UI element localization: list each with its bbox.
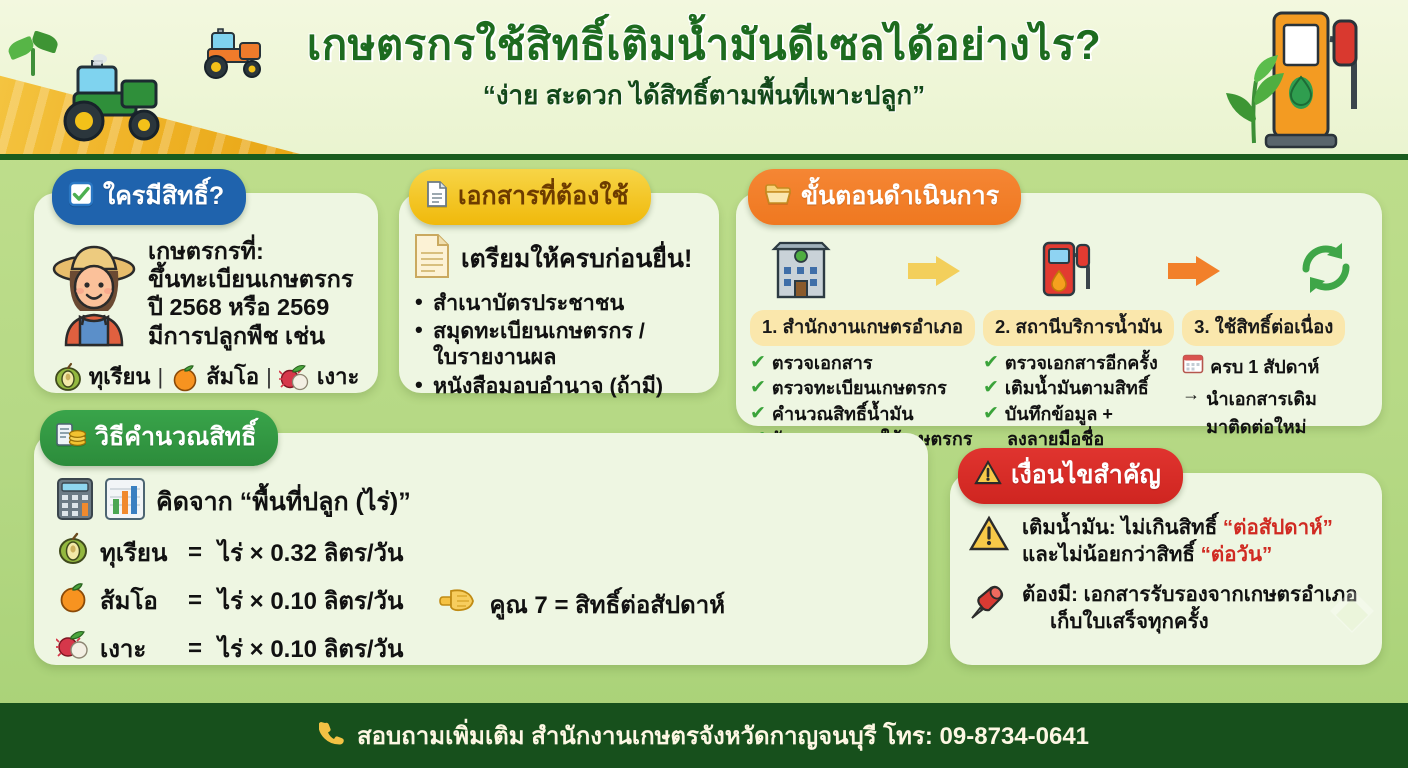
crop-formula: ไร่ × 0.10 ลิตร/วัน bbox=[218, 629, 403, 668]
rambutan-icon bbox=[56, 628, 90, 669]
footer-contact-text: สอบถามเพิ่มเติม สำนักงานเกษตรจังหวัดกาญจ… bbox=[357, 716, 1089, 755]
equals-sign: = bbox=[188, 635, 208, 663]
step-pill-3: 3. ใช้สิทธิ์ต่อเนื่อง bbox=[1182, 310, 1345, 346]
equals-sign: = bbox=[188, 587, 208, 615]
document-item-text: สมุดทะเบียนเกษตรกร / bbox=[433, 319, 645, 343]
step-pill-1: 1. สำนักงานเกษตรอำเภอ bbox=[750, 310, 975, 346]
office-building-icon bbox=[766, 237, 836, 304]
badge-documents: เอกสารที่ต้องใช้ bbox=[409, 169, 651, 225]
pointing-hand-icon bbox=[439, 585, 479, 624]
step-column-3: 3. ใช้สิทธิ์ต่อเนื่อง ครบ 1 สัปดาห์ → นำ… bbox=[1178, 310, 1374, 454]
list-item: สำเนาบัตรประชาชน bbox=[415, 290, 719, 316]
check-icon: ✔ bbox=[983, 352, 999, 375]
card-steps: 1. สำนักงานเกษตรอำเภอ ✔ตรวจเอกสาร ✔ตรวจท… bbox=[736, 193, 1382, 426]
crop-name: ทุเรียน bbox=[100, 533, 178, 572]
calculation-rows: ทุเรียน = ไร่ × 0.32 ลิตร/วัน ส้มโอ = ไร… bbox=[56, 532, 403, 676]
list-item: ✔เติมน้ำมันตามสิทธิ์ bbox=[983, 377, 1174, 400]
eligibility-text: เกษตรกรที่: ขึ้นทะเบียนเกษตรกร ปี 2568 ห… bbox=[148, 235, 354, 352]
pomelo-icon bbox=[56, 580, 90, 621]
calculation-row: เงาะ = ไร่ × 0.10 ลิตร/วัน bbox=[56, 628, 403, 669]
check-icon: ✔ bbox=[983, 377, 999, 400]
badge-calculation: วิธีคำนวณสิทธิ์ bbox=[40, 410, 278, 466]
badge-conditions: เงื่อนไขสำคัญ bbox=[958, 448, 1183, 504]
step3-line-3: มาติดต่อใหม่ bbox=[1182, 416, 1370, 439]
crop-name: เงาะ bbox=[100, 629, 178, 668]
warning-triangle-icon bbox=[968, 515, 1010, 568]
folder-open-icon bbox=[764, 182, 792, 211]
badge-steps-label: ขั้นตอนดำเนินการ bbox=[801, 176, 999, 216]
step3-line-1: ครบ 1 สัปดาห์ bbox=[1182, 352, 1370, 381]
document-item-text: หนังสือมอบอำนาจ (ถ้ามี) bbox=[433, 374, 663, 398]
crop-list: ทุเรียน | ส้มโอ | เงาะ bbox=[34, 359, 378, 394]
list-item: ✔ตรวจเอกสารอีกครั้ง bbox=[983, 352, 1174, 375]
page-header: เกษตรกรใช้สิทธิ์เติมน้ำมันดีเซลได้อย่างไ… bbox=[0, 0, 1408, 160]
card-calculation: คิดจาก “พื้นที่ปลูก (ไร่)” ทุเรียน = ไร่… bbox=[34, 433, 928, 665]
documents-list: สำเนาบัตรประชาชน สมุดทะเบียนเกษตรกร / ใบ… bbox=[415, 290, 719, 399]
badge-steps: ขั้นตอนดำเนินการ bbox=[748, 169, 1021, 225]
condition-highlight-2: “ต่อวัน” bbox=[1201, 543, 1273, 566]
list-item: ✔คำนวณสิทธิ์น้ำมัน bbox=[750, 403, 975, 426]
eligibility-line: ขึ้นทะเบียนเกษตรกร bbox=[148, 265, 354, 293]
eligibility-line: เกษตรกรที่: bbox=[148, 237, 354, 265]
check-icon: ✔ bbox=[983, 403, 999, 426]
corner-fan-decoration bbox=[1312, 589, 1392, 633]
condition-highlight: “ต่อสัปดาห์” bbox=[1223, 516, 1333, 539]
document-item-cont: ใบรายงานผล bbox=[433, 344, 719, 370]
fuel-pump-icon bbox=[1036, 237, 1096, 304]
badge-conditions-label: เงื่อนไขสำคัญ bbox=[1011, 455, 1161, 495]
page-footer: สอบถามเพิ่มเติม สำนักงานเกษตรจังหวัดกาญจ… bbox=[0, 703, 1408, 768]
condition-prefix-3: ต้องมี: เอกสารรับรองจากเกษตรอำเภอ bbox=[1022, 582, 1358, 609]
rambutan-icon bbox=[279, 362, 311, 392]
check-icon: ✔ bbox=[750, 352, 766, 375]
crop-formula: ไร่ × 0.10 ลิตร/วัน bbox=[218, 581, 403, 620]
step-items-2: ✔ตรวจเอกสารอีกครั้ง ✔เติมน้ำมันตามสิทธิ์… bbox=[983, 352, 1174, 426]
list-item: ✔ตรวจทะเบียนเกษตรกร bbox=[750, 377, 975, 400]
arrow-right-orange-icon bbox=[1168, 256, 1224, 286]
document-icon bbox=[425, 180, 449, 213]
document-lines-icon bbox=[413, 233, 451, 284]
crop-name: ส้มโอ bbox=[100, 581, 178, 620]
pomelo-icon bbox=[170, 362, 200, 392]
condition-indent: เก็บใบเสร็จทุกครั้ง bbox=[1022, 609, 1358, 636]
calculation-note-text: คูณ 7 = สิทธิ์ต่อสัปดาห์ bbox=[489, 585, 725, 624]
arrow-right-yellow-icon bbox=[908, 256, 964, 286]
badge-calculation-label: วิธีคำนวณสิทธิ์ bbox=[95, 417, 256, 457]
eligibility-line: ปี 2568 หรือ 2569 bbox=[148, 293, 354, 321]
list-item: ✔ตรวจเอกสาร bbox=[750, 352, 975, 375]
durian-icon bbox=[56, 532, 90, 573]
calculator-icon bbox=[56, 477, 94, 526]
warning-triangle-icon bbox=[974, 460, 1002, 491]
check-icon: ✔ bbox=[750, 403, 766, 426]
list-item: หนังสือมอบอำนาจ (ถ้ามี) bbox=[415, 373, 719, 399]
crop-separator: | bbox=[265, 364, 273, 390]
step-column-2: 2. สถานีบริการน้ำมัน ✔ตรวจเอกสารอีกครั้ง… bbox=[979, 310, 1178, 454]
page-subtitle: “ง่าย สะดวก ได้สิทธิ์ตามพื้นที่เพาะปลูก” bbox=[0, 75, 1408, 116]
crop-formula: ไร่ × 0.32 ลิตร/วัน bbox=[218, 533, 403, 572]
condition-text-1: เติมน้ำมัน: ไม่เกินสิทธิ์ “ต่อสัปดาห์” แ… bbox=[1022, 515, 1333, 568]
pushpin-icon bbox=[968, 582, 1010, 635]
calculation-row: ทุเรียน = ไร่ × 0.32 ลิตร/วัน bbox=[56, 532, 403, 573]
eligibility-line: มีการปลูกพืช เช่น bbox=[148, 322, 354, 350]
badge-eligibility: ใครมีสิทธิ์? bbox=[52, 169, 246, 225]
page-title: เกษตรกรใช้สิทธิ์เติมน้ำมันดีเซลได้อย่างไ… bbox=[0, 22, 1408, 67]
equals-sign: = bbox=[188, 539, 208, 567]
calculation-row: ส้มโอ = ไร่ × 0.10 ลิตร/วัน bbox=[56, 580, 403, 621]
refresh-cycle-icon bbox=[1296, 239, 1356, 302]
crop-label-pomelo: ส้มโอ bbox=[206, 359, 259, 394]
condition-prefix: เติมน้ำมัน: ไม่เกินสิทธิ์ bbox=[1022, 516, 1223, 539]
step3-line-2: → นำเอกสารเดิม bbox=[1182, 384, 1370, 413]
calculation-headline: คิดจาก “พื้นที่ปลูก (ไร่)” bbox=[156, 482, 411, 522]
badge-eligibility-label: ใครมีสิทธิ์? bbox=[103, 176, 224, 216]
crop-separator: | bbox=[156, 364, 164, 390]
document-item-text: สำเนาบัตรประชาชน bbox=[433, 291, 624, 315]
crop-label-rambutan: เงาะ bbox=[317, 359, 359, 394]
condition-text-2: ต้องมี: เอกสารรับรองจากเกษตรอำเภอ เก็บใบ… bbox=[1022, 582, 1358, 635]
calculation-note: คูณ 7 = สิทธิ์ต่อสัปดาห์ bbox=[439, 585, 725, 624]
checkbox-check-icon bbox=[68, 181, 94, 212]
check-icon: ✔ bbox=[750, 377, 766, 400]
durian-icon bbox=[53, 362, 83, 392]
content-stage: ใครมีสิทธิ์? เกษตรกรท bbox=[0, 160, 1408, 703]
badge-documents-label: เอกสารที่ต้องใช้ bbox=[458, 176, 629, 216]
money-document-icon bbox=[56, 422, 86, 453]
documents-headline: เตรียมให้ครบก่อนยื่น! bbox=[461, 239, 692, 279]
list-item: สมุดทะเบียนเกษตรกร / ใบรายงานผล bbox=[415, 318, 719, 370]
bar-chart-icon bbox=[104, 477, 146, 526]
farmer-avatar-icon bbox=[46, 235, 142, 352]
condition-prefix-2: และไม่น้อยกว่าสิทธิ์ bbox=[1022, 543, 1201, 566]
calendar-icon bbox=[1182, 352, 1204, 381]
list-item: ✔บันทึกข้อมูล + bbox=[983, 403, 1174, 426]
crop-label-durian: ทุเรียน bbox=[89, 359, 151, 394]
arrow-right-icon: → bbox=[1182, 384, 1200, 413]
phone-icon bbox=[319, 720, 345, 751]
step-pill-2: 2. สถานีบริการน้ำมัน bbox=[983, 310, 1174, 346]
